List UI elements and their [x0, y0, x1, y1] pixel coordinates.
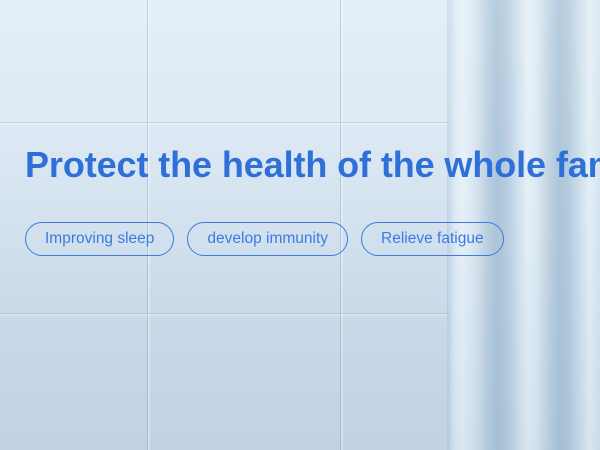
promo-banner: Protect the health of the whole family I… — [0, 0, 600, 450]
benefit-tag-improving-sleep[interactable]: Improving sleep — [25, 222, 174, 256]
benefit-tag-develop-immunity[interactable]: develop immunity — [187, 222, 348, 256]
banner-content: Protect the health of the whole family I… — [25, 0, 600, 450]
benefit-tag-row: Improving sleep develop immunity Relieve… — [25, 222, 504, 256]
benefit-tag-relieve-fatigue[interactable]: Relieve fatigue — [361, 222, 504, 256]
page-title: Protect the health of the whole family — [25, 143, 600, 187]
